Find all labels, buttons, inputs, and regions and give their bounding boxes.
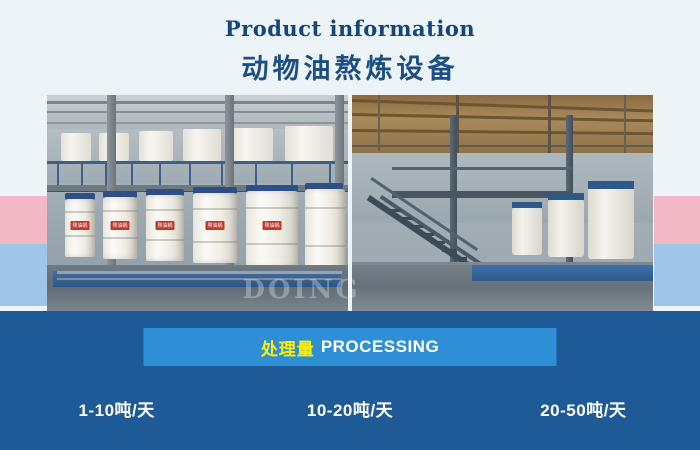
processing-band: 处理量 PROCESSING 1-10吨/天 10-20吨/天 20-50吨/天: [0, 311, 700, 450]
tank: 熬油锅: [103, 197, 137, 259]
tank: 熬油锅: [193, 193, 237, 263]
decorative-right-bars: [654, 196, 700, 306]
photo-gallery: 熬油锅 熬油锅 熬油锅 熬油锅: [47, 95, 653, 311]
deco-blue-bar-left: [0, 244, 52, 306]
tank: 熬油锅: [146, 195, 184, 261]
decorative-left-bars: [0, 196, 52, 306]
capacity-item-1: 1-10吨/天: [0, 396, 233, 421]
title-english: Product information: [0, 16, 700, 41]
tank: [512, 207, 542, 255]
tank: [548, 199, 584, 257]
title-chinese: 动物油熬炼设备: [0, 47, 700, 86]
deco-pink-bar-left: [0, 196, 52, 244]
deco-blue-bar-right: [654, 244, 700, 306]
product-information-slide: Product information 动物油熬炼设备: [0, 0, 700, 450]
processing-label-english: PROCESSING: [321, 337, 439, 357]
capacity-item-3: 20-50吨/天: [467, 396, 700, 421]
capacity-list: 1-10吨/天 10-20吨/天 20-50吨/天: [0, 396, 700, 421]
tank: [588, 187, 634, 259]
processing-title-button[interactable]: 处理量 PROCESSING: [144, 328, 557, 366]
tank: 熬油锅: [65, 199, 95, 257]
watermark: DOING: [242, 275, 360, 305]
tank: 熬油锅: [246, 191, 298, 267]
deco-pink-bar-right: [654, 196, 700, 244]
photo-right-blue-platform: [472, 265, 653, 281]
photo-workshop-stairs: [352, 95, 653, 311]
tank: [305, 189, 345, 271]
capacity-item-2: 10-20吨/天: [233, 396, 466, 421]
processing-label-chinese: 处理量: [261, 335, 315, 360]
